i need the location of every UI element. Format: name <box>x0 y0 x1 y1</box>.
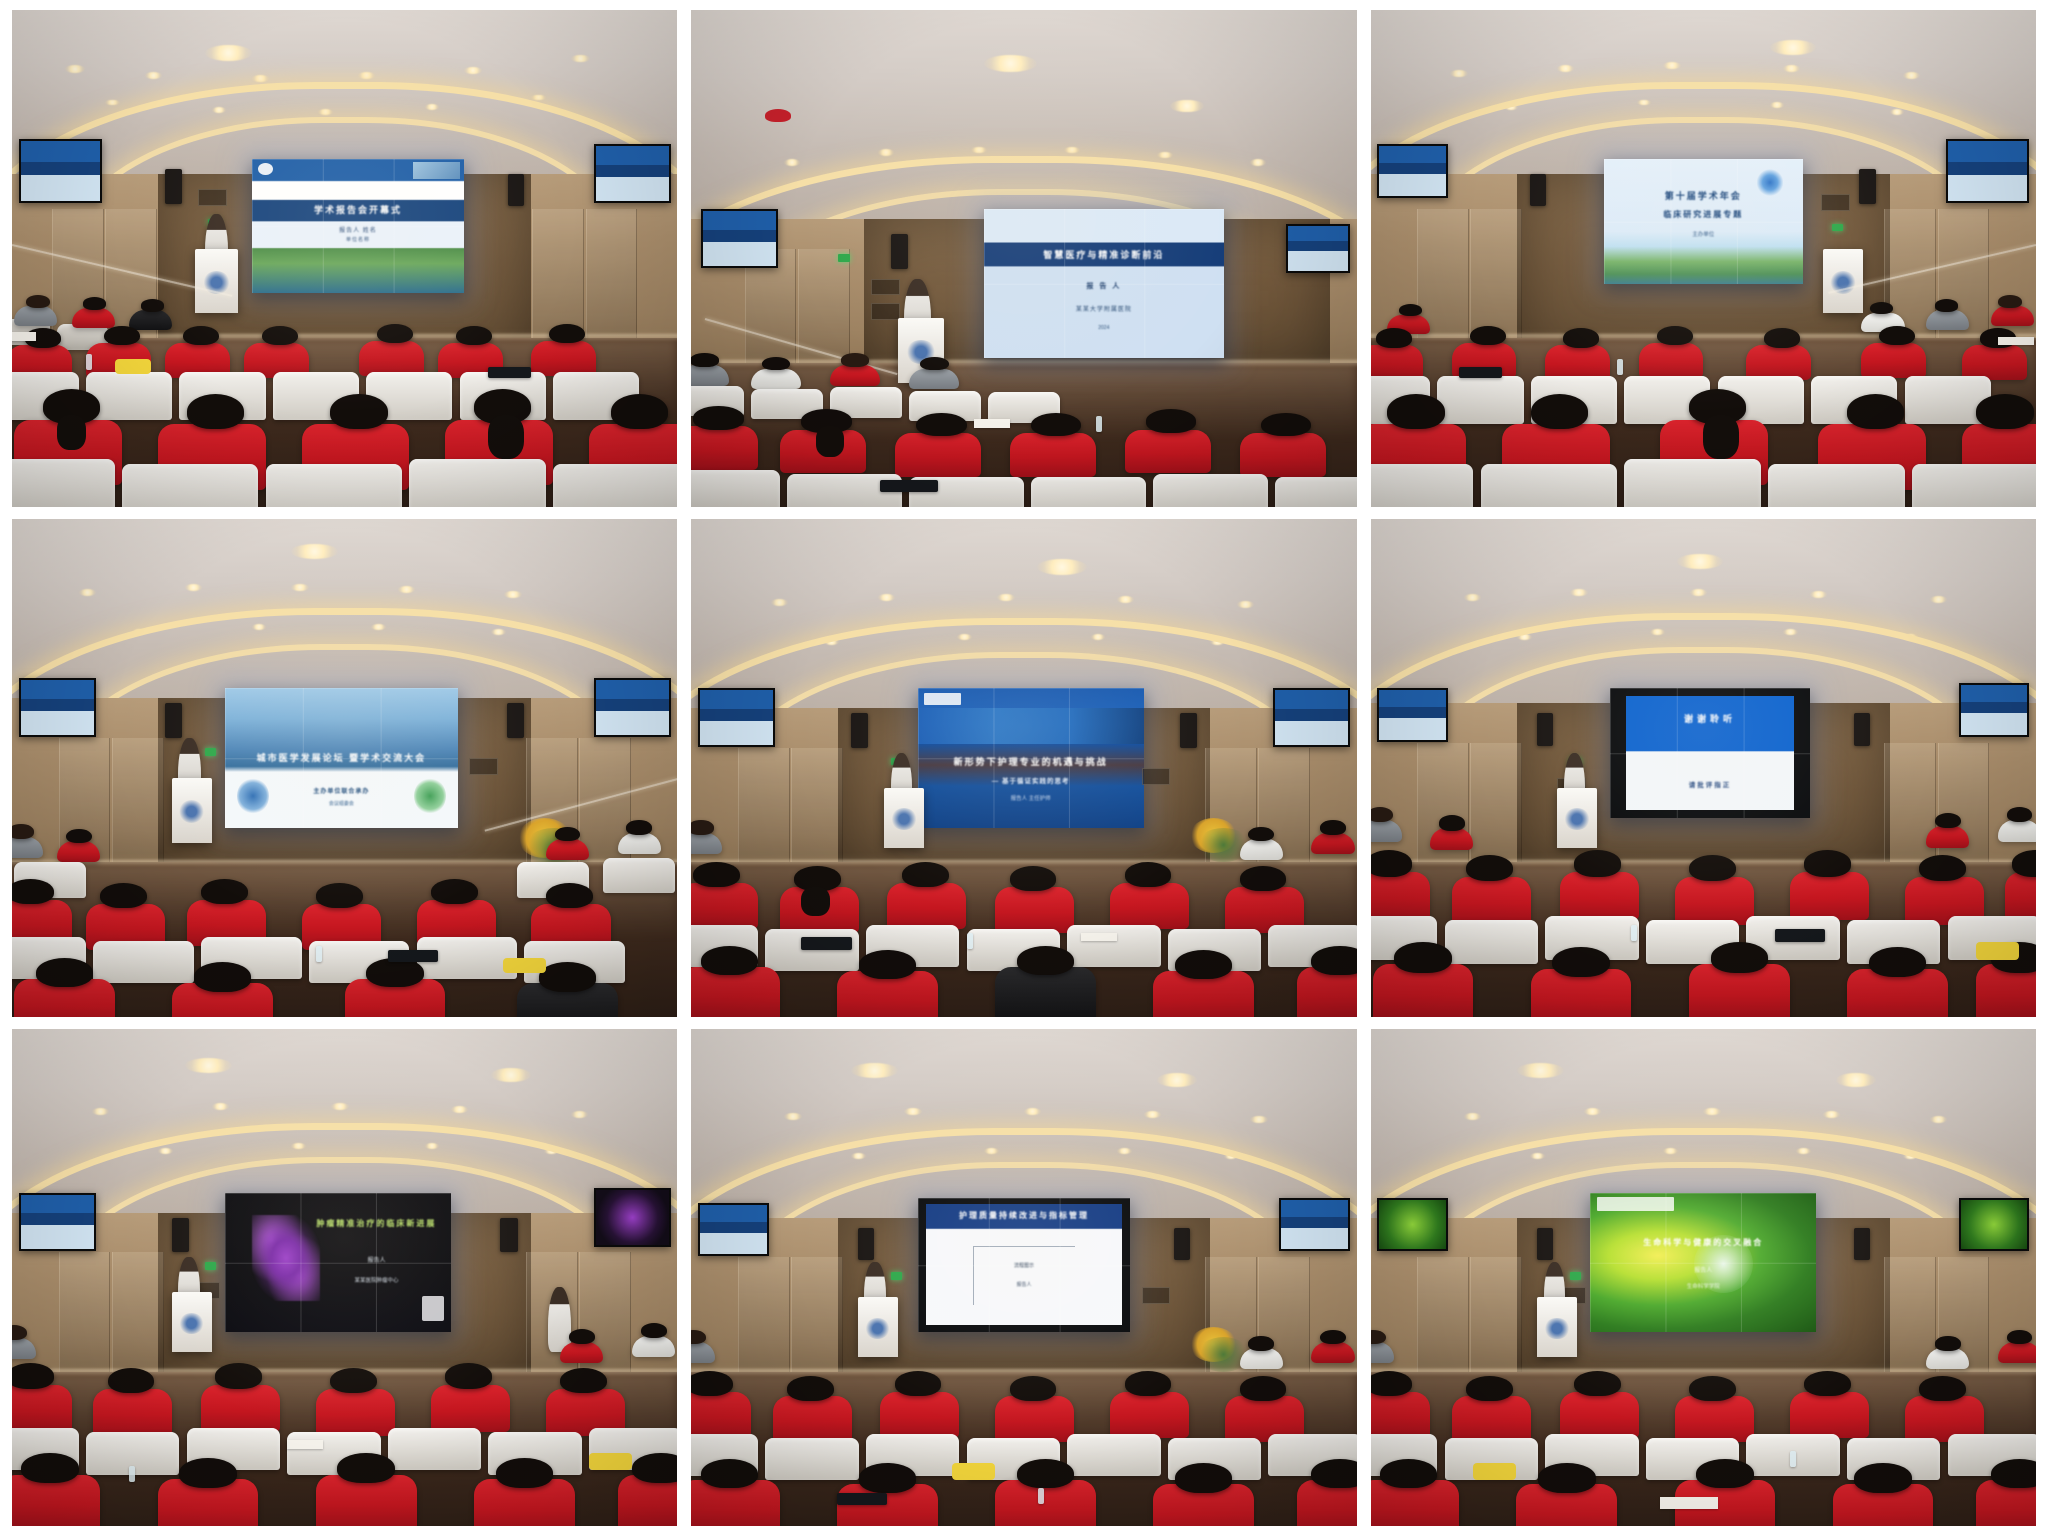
downlight-icon <box>1677 554 1724 569</box>
attendee-head <box>539 962 596 991</box>
slide-title-5: 新形势下护理专业的机遇与挑战 <box>927 755 1135 768</box>
main-led-screen-5[interactable]: 新形势下护理专业的机遇与挑战 — 基于循证实践的思考 报告人 主任护师 <box>918 688 1144 827</box>
downlight-icon <box>1823 1111 1840 1118</box>
attendee-torso <box>691 1392 751 1438</box>
attendee-head <box>1538 1463 1595 1492</box>
attendee-torso <box>201 1385 280 1432</box>
attendee-head <box>1689 1376 1736 1401</box>
main-led-screen-7[interactable]: 肿瘤精准治疗的临床新进展 报告人 某某医院肿瘤中心 <box>225 1193 451 1332</box>
paper-prop <box>1660 1497 1717 1510</box>
attendee-head <box>1869 947 1926 978</box>
fire-alarm-icon <box>765 109 792 122</box>
attendee-head <box>1248 1336 1274 1351</box>
downlight-icon <box>79 589 96 596</box>
attendee-head <box>1311 946 1356 975</box>
tablet-device-prop <box>388 950 438 963</box>
slide-logo-5-icon <box>924 693 960 706</box>
slide-affiliation-8: 报告人 <box>926 1281 1122 1288</box>
seat <box>765 929 858 971</box>
attendee-torso <box>691 365 729 385</box>
slide-subtitle-2: 报 告 人 <box>994 281 1214 291</box>
side-monitor-body <box>21 175 101 201</box>
side-monitor-body <box>21 1225 94 1249</box>
attendee-head <box>100 883 147 908</box>
attendee-head <box>1696 1459 1753 1488</box>
auditorium-scene-4: 城市医学发展论坛 暨学术交流大会 主办单位联合承办 会议组委会 <box>12 519 677 1016</box>
seat <box>691 470 779 507</box>
attendee-head <box>108 1368 155 1394</box>
exit-sign-icon <box>205 748 216 755</box>
attendee-head <box>560 1368 607 1394</box>
side-monitor-body <box>703 242 776 266</box>
attendee-torso <box>1926 826 1969 848</box>
slide-subtitle-9: 报告人 <box>1599 1265 1807 1274</box>
main-led-screen-2[interactable]: 智慧医疗与精准诊断前沿 报 告 人 某某大学附属医院 2024 <box>984 209 1224 358</box>
attendee-head <box>1394 942 1451 973</box>
side-monitor-left-5[interactable] <box>698 688 775 747</box>
slide-affiliation-5: 报告人 主任护师 <box>927 794 1135 802</box>
attendee-head <box>12 1363 54 1389</box>
side-monitor-band <box>1379 707 1446 718</box>
attendee-head <box>1935 813 1961 828</box>
wall-speaker-icon <box>500 1218 517 1253</box>
slide-photo-band-5 <box>918 708 1144 744</box>
yellow-accessory-prop <box>1473 1463 1516 1480</box>
attendee-head <box>21 1453 78 1483</box>
side-monitor-body <box>596 177 669 201</box>
attendee-torso <box>12 1385 72 1432</box>
tablet-device-prop <box>837 1493 887 1506</box>
side-monitor-top <box>1379 146 1446 163</box>
attendee-head <box>1248 827 1274 842</box>
attendee-head <box>1017 1459 1074 1488</box>
attendee-head <box>1261 413 1311 437</box>
side-monitor-top <box>21 1195 94 1214</box>
side-monitor-band <box>1948 162 2028 175</box>
side-monitor-body <box>21 711 94 735</box>
side-monitor-right-4[interactable] <box>594 678 671 737</box>
attendee-torso <box>560 1342 603 1363</box>
exit-sign-icon <box>205 1262 216 1269</box>
side-monitor-body <box>1379 174 1446 196</box>
attendee-head <box>1125 862 1172 887</box>
downlight-icon <box>1663 62 1680 69</box>
downlight-icon <box>185 584 202 591</box>
main-led-screen-8[interactable]: 护理质量持续改进与指标管理 流程图示 报告人 <box>918 1198 1131 1332</box>
seat <box>765 1438 858 1480</box>
slide-subtitle-1: 报告人 姓名 <box>260 225 456 234</box>
attendee-head <box>701 1459 758 1488</box>
attendee-head <box>611 394 668 429</box>
attendee-head <box>1380 1459 1437 1488</box>
attendee-head <box>12 1325 27 1340</box>
wall-speaker-icon <box>508 174 524 206</box>
side-monitor-left-3[interactable] <box>1377 144 1448 198</box>
attendee-torso <box>1110 883 1189 929</box>
side-monitor-body <box>1961 713 2028 735</box>
side-monitor-left-4[interactable] <box>19 678 96 737</box>
attendee-hair <box>57 415 86 450</box>
auditorium-scene-1: 学术报告会开幕式 报告人 姓名 单位名称 <box>12 10 677 507</box>
downlight-icon <box>1570 589 1587 596</box>
photo-cell-9[interactable]: 生命科学与健康的交叉融合 报告人 生命科学学院 <box>1371 1029 2036 1526</box>
water-bottle-prop <box>1038 1488 1044 1504</box>
attendee-hair <box>816 426 845 456</box>
attendee-torso <box>1790 1392 1869 1438</box>
tablet-device-prop <box>1775 929 1825 942</box>
paper-prop <box>1081 933 1117 941</box>
paper-prop <box>1998 337 2034 346</box>
downlight-icon <box>1690 589 1707 596</box>
attendee-head <box>641 1323 667 1338</box>
attendee-head <box>691 1371 733 1396</box>
seat <box>122 464 259 508</box>
slide-photo-strip-1 <box>413 162 460 179</box>
seat <box>12 459 115 507</box>
attendee-head <box>626 820 652 835</box>
main-led-screen-1[interactable]: 学术报告会开幕式 报告人 姓名 单位名称 <box>252 159 465 293</box>
attendee-torso <box>691 883 758 929</box>
side-monitor-body <box>1948 175 2028 201</box>
photo-cell-2[interactable]: 智慧医疗与精准诊断前沿 报 告 人 某某大学附属医院 2024 <box>691 10 1356 507</box>
attendee-head <box>1371 850 1413 876</box>
slide-title-6: 谢谢聆听 <box>1618 712 1802 725</box>
attendee-head <box>1439 815 1465 830</box>
water-bottle-prop <box>86 354 92 370</box>
attendee-head <box>1125 1371 1172 1396</box>
slide-subtitle-8: 流程图示 <box>926 1262 1122 1269</box>
wall-speaker-icon <box>1180 713 1197 748</box>
attendee-torso <box>12 837 43 858</box>
attendee-head <box>36 958 93 987</box>
attendee-head <box>330 1368 377 1394</box>
wall-speaker-icon <box>507 703 524 738</box>
attendee-head <box>1146 409 1196 433</box>
auditorium-scene-2: 智慧医疗与精准诊断前沿 报 告 人 某某大学附属医院 2024 <box>691 10 1356 507</box>
side-monitor-band <box>21 699 94 711</box>
side-monitor-top <box>1379 690 1446 707</box>
side-monitor-left-9[interactable] <box>1377 1198 1448 1252</box>
attendee-head <box>496 1458 553 1488</box>
attendee-head <box>104 326 140 346</box>
downlight-icon <box>451 1106 468 1113</box>
water-bottle-prop <box>129 1466 135 1482</box>
seat <box>1624 459 1761 507</box>
side-monitor-right-7[interactable] <box>594 1188 671 1247</box>
slide-subtitle-3: 临床研究进展专题 <box>1611 209 1795 220</box>
attendee-torso <box>93 1389 172 1436</box>
side-monitor-top <box>1275 690 1348 709</box>
slide-title-7: 肿瘤精准治疗的临床新进展 <box>311 1218 442 1229</box>
wall-speaker-icon <box>1859 169 1876 204</box>
attendee-head <box>12 824 34 839</box>
main-led-screen-4[interactable]: 城市医学发展论坛 暨学术交流大会 主办单位联合承办 会议组委会 <box>225 688 458 827</box>
wall-speaker-icon <box>1174 1228 1190 1260</box>
side-monitor-right-8[interactable] <box>1279 1198 1350 1252</box>
attendee-torso <box>880 1392 959 1438</box>
tablet-device-prop <box>880 480 937 492</box>
attendee-head <box>456 326 492 346</box>
attendee-head <box>445 1363 492 1389</box>
side-monitor-left-1[interactable] <box>19 139 103 203</box>
attendee-torso <box>632 1336 675 1357</box>
side-monitor-top <box>596 146 669 165</box>
attendee-head <box>1320 1330 1346 1345</box>
attendee-torso <box>887 883 966 929</box>
side-monitor-band <box>700 1222 767 1233</box>
wall-plaque <box>871 279 900 296</box>
attendee-head <box>330 394 387 429</box>
photo-cell-1[interactable]: 学术报告会开幕式 报告人 姓名 单位名称 <box>12 10 677 507</box>
attendee-torso <box>751 369 801 389</box>
side-monitor-right-1[interactable] <box>594 144 671 203</box>
exit-sign-icon <box>1832 224 1843 231</box>
side-monitor-body <box>1288 251 1348 271</box>
attendee-head <box>1399 304 1422 316</box>
side-monitor-left-6[interactable] <box>1377 688 1448 742</box>
attendee-torso <box>1311 1342 1354 1363</box>
side-monitor-band <box>1288 241 1348 251</box>
attendee-head <box>546 883 593 908</box>
attendee-torso <box>1790 872 1869 920</box>
side-monitor-right-9[interactable] <box>1959 1198 2030 1252</box>
photo-cell-8[interactable]: 护理质量持续改进与指标管理 流程图示 报告人 <box>691 1029 1356 1526</box>
auditorium-scene-7: 肿瘤精准治疗的临床新进展 报告人 某某医院肿瘤中心 <box>12 1029 677 1526</box>
attendee-head <box>1240 866 1287 891</box>
attendee-head <box>1854 1463 1911 1492</box>
attendee-head <box>1017 946 1074 975</box>
attendee-head <box>1320 820 1346 835</box>
attendee-head <box>1764 328 1800 348</box>
attendee-torso <box>1240 1348 1283 1369</box>
seat <box>1031 477 1146 507</box>
attendee-head <box>66 829 92 844</box>
attendee-torso <box>830 365 880 385</box>
wall-speaker-icon <box>1854 1228 1870 1260</box>
side-monitor-purple-graphic <box>596 1190 669 1245</box>
downlight-icon <box>771 599 788 606</box>
audience-area-6 <box>1371 798 2036 1017</box>
attendee-head <box>1311 1459 1356 1488</box>
wall-plaque <box>1821 194 1850 211</box>
seat <box>266 464 403 508</box>
downlight-icon <box>571 55 590 62</box>
wall-speaker-icon <box>1530 174 1546 206</box>
attendee-hair <box>1703 415 1739 459</box>
photo-cell-4[interactable]: 城市医学发展论坛 暨学术交流大会 主办单位联合承办 会议组委会 <box>12 519 677 1016</box>
exit-sign-icon <box>1570 1272 1581 1279</box>
attendee-head <box>1919 855 1966 881</box>
side-monitor-body <box>1281 1228 1348 1250</box>
wall-plaque <box>198 189 227 206</box>
attendee-torso <box>1371 872 1431 920</box>
side-monitor-body <box>596 711 669 735</box>
water-bottle-prop <box>1617 359 1623 375</box>
seat <box>1445 920 1538 964</box>
attendee-torso <box>995 1396 1074 1442</box>
attendee-head <box>691 820 713 835</box>
attendee-head <box>1466 1376 1513 1401</box>
photo-cell-6[interactable]: 谢谢聆听 请批评指正 <box>1371 519 2036 1016</box>
auditorium-scene-6: 谢谢聆听 请批评指正 <box>1371 519 2036 1016</box>
attendee-torso <box>57 841 100 862</box>
seat <box>1371 464 1474 508</box>
side-monitor-top <box>596 680 669 699</box>
water-bottle-prop <box>316 946 322 962</box>
side-monitor-band <box>596 165 669 177</box>
attendee-torso <box>691 426 758 470</box>
attendee-head <box>691 353 718 367</box>
side-monitor-top <box>1281 1200 1348 1217</box>
attendee-head <box>377 324 413 344</box>
attendee-head <box>902 862 949 887</box>
seat <box>1437 376 1523 424</box>
attendee-head <box>841 353 870 367</box>
yellow-accessory-prop <box>1976 942 2019 960</box>
auditorium-scene-3: 第十届学术年会 临床研究进展专题 主办单位 <box>1371 10 2036 507</box>
attendee-head <box>316 883 363 908</box>
audience-area-7 <box>12 1312 677 1526</box>
attendee-head <box>1804 850 1851 876</box>
seat <box>1067 1434 1160 1476</box>
photo-cell-7[interactable]: 肿瘤精准治疗的临床新进展 报告人 某某医院肿瘤中心 <box>12 1029 677 1526</box>
wall-speaker-icon <box>1537 1228 1553 1260</box>
attendee-head <box>1376 328 1412 348</box>
attendee-head <box>12 879 54 904</box>
yellow-bag-prop <box>115 359 151 374</box>
attendee-torso <box>72 308 115 328</box>
side-monitor-left-7[interactable] <box>19 1193 96 1252</box>
downlight-icon <box>904 1108 921 1115</box>
audience-area-8 <box>691 1317 1356 1526</box>
slide-affiliation-2: 某某大学附属医院 <box>994 304 1214 313</box>
photo-cell-5[interactable]: 新形势下护理专业的机遇与挑战 — 基于循证实践的思考 报告人 主任护师 <box>691 519 1356 1016</box>
attendee-head <box>183 326 219 346</box>
exit-sign-icon <box>891 1272 902 1279</box>
side-monitor-green-graphic <box>1961 1200 2028 1250</box>
wall-speaker-icon <box>1537 713 1553 745</box>
attendee-torso <box>1639 343 1704 378</box>
attendee-torso <box>2005 872 2036 920</box>
attendee-head <box>1574 1371 1621 1396</box>
attendee-torso <box>773 1396 852 1442</box>
audience-area-4 <box>12 808 677 1017</box>
slide-header-badge-9 <box>1597 1197 1674 1211</box>
downlight-icon <box>1037 559 1087 575</box>
attendee-head <box>916 413 966 437</box>
photo-collage-grid: 学术报告会开幕式 报告人 姓名 单位名称 <box>0 0 2048 1536</box>
attendee-torso <box>359 341 424 376</box>
side-monitor-top <box>703 211 776 230</box>
attendee-head <box>569 1329 595 1344</box>
attendee-torso <box>1430 828 1473 850</box>
side-monitor-top <box>1288 226 1348 241</box>
seat <box>409 459 546 507</box>
attendee-head <box>215 1363 262 1389</box>
attendee-torso <box>1240 433 1326 477</box>
side-monitor-body <box>1275 721 1348 745</box>
attendee-torso <box>12 1338 36 1359</box>
side-monitor-left-2[interactable] <box>701 209 778 268</box>
attendee-head <box>1919 1376 1966 1401</box>
side-monitor-right-6[interactable] <box>1959 683 2030 737</box>
attendee-head <box>1991 1459 2036 1488</box>
attendee-head <box>262 326 298 346</box>
attendee-torso <box>691 833 722 854</box>
side-monitor-band <box>1379 163 1446 174</box>
attendee-head <box>1711 942 1768 973</box>
attendee-head <box>549 324 585 344</box>
main-led-screen-9[interactable]: 生命科学与健康的交叉融合 报告人 生命科学学院 <box>1590 1193 1816 1332</box>
attendee-torso <box>895 433 981 477</box>
side-monitor-right-5[interactable] <box>1273 688 1350 747</box>
side-monitor-right-2[interactable] <box>1286 224 1350 273</box>
wall-speaker-icon <box>891 234 908 269</box>
attendee-torso <box>1125 430 1211 474</box>
seat <box>1153 474 1268 508</box>
attendee-head <box>1574 850 1621 876</box>
attendee-head <box>1552 947 1609 978</box>
side-monitor-top <box>21 141 101 161</box>
attendee-torso <box>129 310 172 330</box>
seat <box>1067 925 1160 967</box>
wall-speaker-icon <box>1854 713 1870 745</box>
seat <box>93 941 194 983</box>
slide-diagram-8 <box>973 1246 1075 1305</box>
downlight-icon <box>984 55 1037 72</box>
side-monitor-left-8[interactable] <box>698 1203 769 1257</box>
attendee-head <box>201 879 248 904</box>
side-monitor-top <box>700 690 773 709</box>
side-monitor-right-3[interactable] <box>1946 139 2030 203</box>
slide-title-4: 城市医学发展论坛 暨学术交流大会 <box>234 751 448 764</box>
attendee-head <box>1240 1376 1287 1401</box>
downlight-icon <box>1770 40 1817 55</box>
side-monitor-band <box>1275 709 1348 721</box>
attendee-head <box>1804 1371 1851 1396</box>
main-led-screen-3[interactable]: 第十届学术年会 临床研究进展专题 主办单位 <box>1604 159 1804 283</box>
attendee-torso <box>1861 343 1926 378</box>
attendee-head <box>920 357 949 371</box>
auditorium-scene-9: 生命科学与健康的交叉融合 报告人 生命科学学院 <box>1371 1029 2036 1526</box>
attendee-head <box>1935 299 1958 311</box>
attendee-head <box>1847 394 1904 429</box>
paper-prop <box>974 419 1010 427</box>
yellow-accessory-prop <box>503 958 546 973</box>
photo-cell-3[interactable]: 第十届学术年会 临床研究进展专题 主办单位 <box>1371 10 2036 507</box>
yellow-accessory-prop <box>589 1453 632 1470</box>
attendee-head <box>632 1453 677 1483</box>
attendee-torso <box>691 1342 715 1363</box>
slide-title-9: 生命科学与健康的交叉融合 <box>1599 1237 1807 1248</box>
side-monitor-top <box>1961 685 2028 702</box>
side-monitor-top <box>21 680 94 699</box>
attendee-head <box>693 406 743 430</box>
attendee-head <box>1531 394 1588 429</box>
audience-area-9 <box>1371 1317 2036 1526</box>
attendee-head <box>1563 328 1599 348</box>
attendee-head <box>693 862 740 887</box>
attendee-head <box>859 1463 916 1492</box>
slide-subtitle-7: 报告人 <box>311 1255 442 1264</box>
side-monitor-top <box>700 1205 767 1222</box>
attendee-head <box>1010 1376 1057 1401</box>
paper-prop <box>287 1440 323 1449</box>
wall-plaque <box>469 758 498 775</box>
downlight-icon <box>1170 100 1203 113</box>
attendee-head <box>1010 866 1057 891</box>
seat <box>1481 464 1618 508</box>
